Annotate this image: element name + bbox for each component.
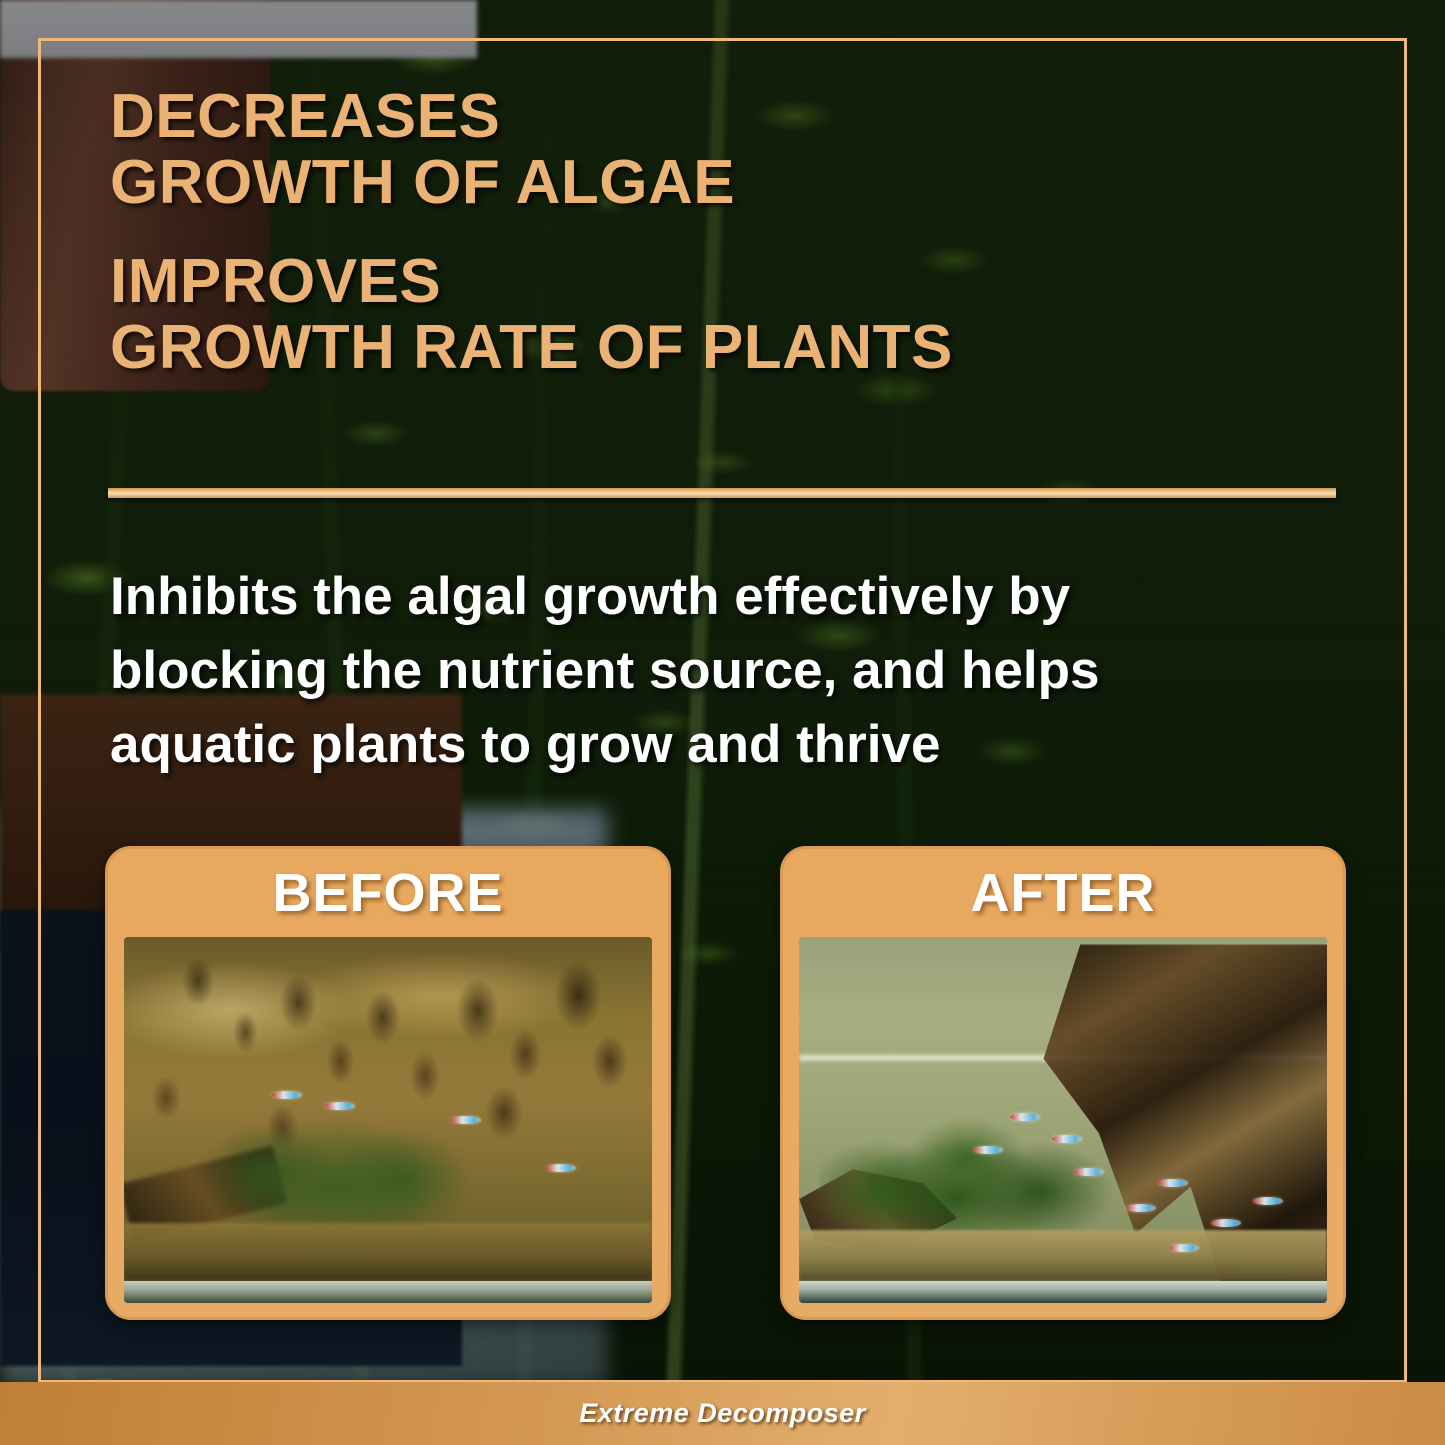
after-fish [973,1146,1003,1154]
before-photo [124,937,652,1303]
before-fish [546,1164,576,1172]
gold-divider-rule [108,488,1336,498]
footer-bar: Extreme Decomposer [0,1382,1445,1445]
product-name-label: Extreme Decomposer [579,1398,866,1429]
poster-content: DECREASES GROWTH OF ALGAE IMPROVES GROWT… [0,0,1445,1445]
after-fish [1211,1219,1241,1227]
before-card: BEFORE [105,846,671,1320]
after-fish [1074,1168,1104,1176]
before-card-title: BEFORE [108,849,668,937]
subcopy-line-1: Inhibits the algal growth effectively by [110,560,1310,634]
after-substrate [799,1230,1327,1281]
before-after-comparison: BEFORE AFTER [0,846,1445,1316]
headline-line-1: DECREASES [110,84,1290,150]
after-photo [799,937,1327,1303]
after-tank-rim [799,1281,1327,1303]
before-fish [325,1102,355,1110]
after-card-title: AFTER [783,849,1343,937]
headline-spacer [110,215,1290,249]
subcopy-line-2: blocking the nutrient source, and helps [110,634,1310,708]
before-substrate [124,1223,652,1282]
product-feature-poster: DECREASES GROWTH OF ALGAE IMPROVES GROWT… [0,0,1445,1445]
before-fish [272,1091,302,1099]
subcopy-block: Inhibits the algal growth effectively by… [110,560,1310,783]
after-fish [1253,1197,1283,1205]
before-tank-rim [124,1281,652,1303]
headline-line-4: GROWTH RATE OF PLANTS [110,315,1290,381]
headline-line-3: IMPROVES [110,249,1290,315]
after-fish [1158,1179,1188,1187]
after-card: AFTER [780,846,1346,1320]
headline-block: DECREASES GROWTH OF ALGAE IMPROVES GROWT… [110,84,1290,381]
subcopy-line-3: aquatic plants to grow and thrive [110,708,1310,782]
headline-line-2: GROWTH OF ALGAE [110,150,1290,216]
after-fish [1010,1113,1040,1121]
after-fish [1052,1135,1082,1143]
